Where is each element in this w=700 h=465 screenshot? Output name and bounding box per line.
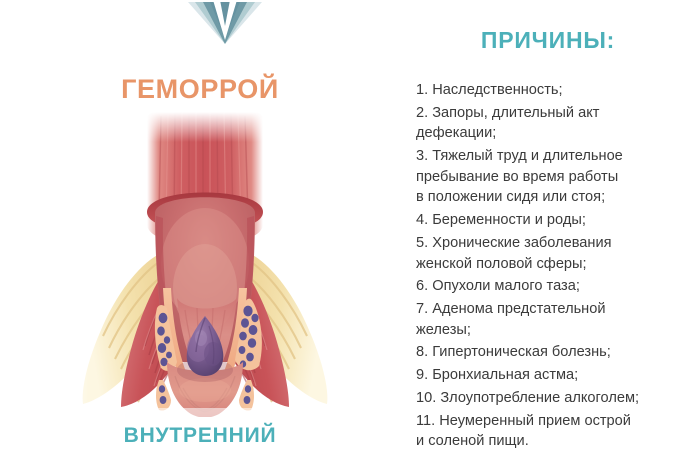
venous-nodules-lower-left <box>156 380 171 411</box>
causes-list: 1. Наследственность; 2. Запоры, длительн… <box>416 80 694 454</box>
right-column: ПРИЧИНЫ: 1. Наследственность; 2. Запоры,… <box>412 0 696 465</box>
list-item: 9. Бронхиальная астма; <box>416 365 694 386</box>
list-item: 11. Неумеренный прием острой и соленой п… <box>416 411 694 452</box>
list-item: 8. Гипертоническая болезнь; <box>416 342 694 363</box>
list-item: 2. Запоры, длительный акт дефекации; <box>416 103 694 144</box>
list-item: 4. Беременности и роды; <box>416 210 694 231</box>
list-item: 6. Опухоли малого таза; <box>416 276 694 297</box>
list-item: 5. Хронические заболевания женской полов… <box>416 233 694 274</box>
list-item: 7. Аденома предстательной железы; <box>416 299 694 340</box>
page-title: ГЕМОРРОЙ <box>0 74 400 105</box>
left-column: ГЕМОРРОЙ <box>0 0 400 465</box>
list-item: 3. Тяжелый труд и длительное пребывание … <box>416 146 694 208</box>
venous-nodules-lower-right <box>239 380 254 411</box>
causes-heading: ПРИЧИНЫ: <box>412 27 684 54</box>
hemorrhoid-type-label: ВНУТРЕННИЙ <box>0 424 400 448</box>
anatomy-svg <box>55 112 355 417</box>
hemorrhoid-anatomy-illustration <box>55 112 355 417</box>
list-item: 10. Злоупотребление алкоголем; <box>416 388 694 409</box>
list-item: 1. Наследственность; <box>416 80 694 101</box>
